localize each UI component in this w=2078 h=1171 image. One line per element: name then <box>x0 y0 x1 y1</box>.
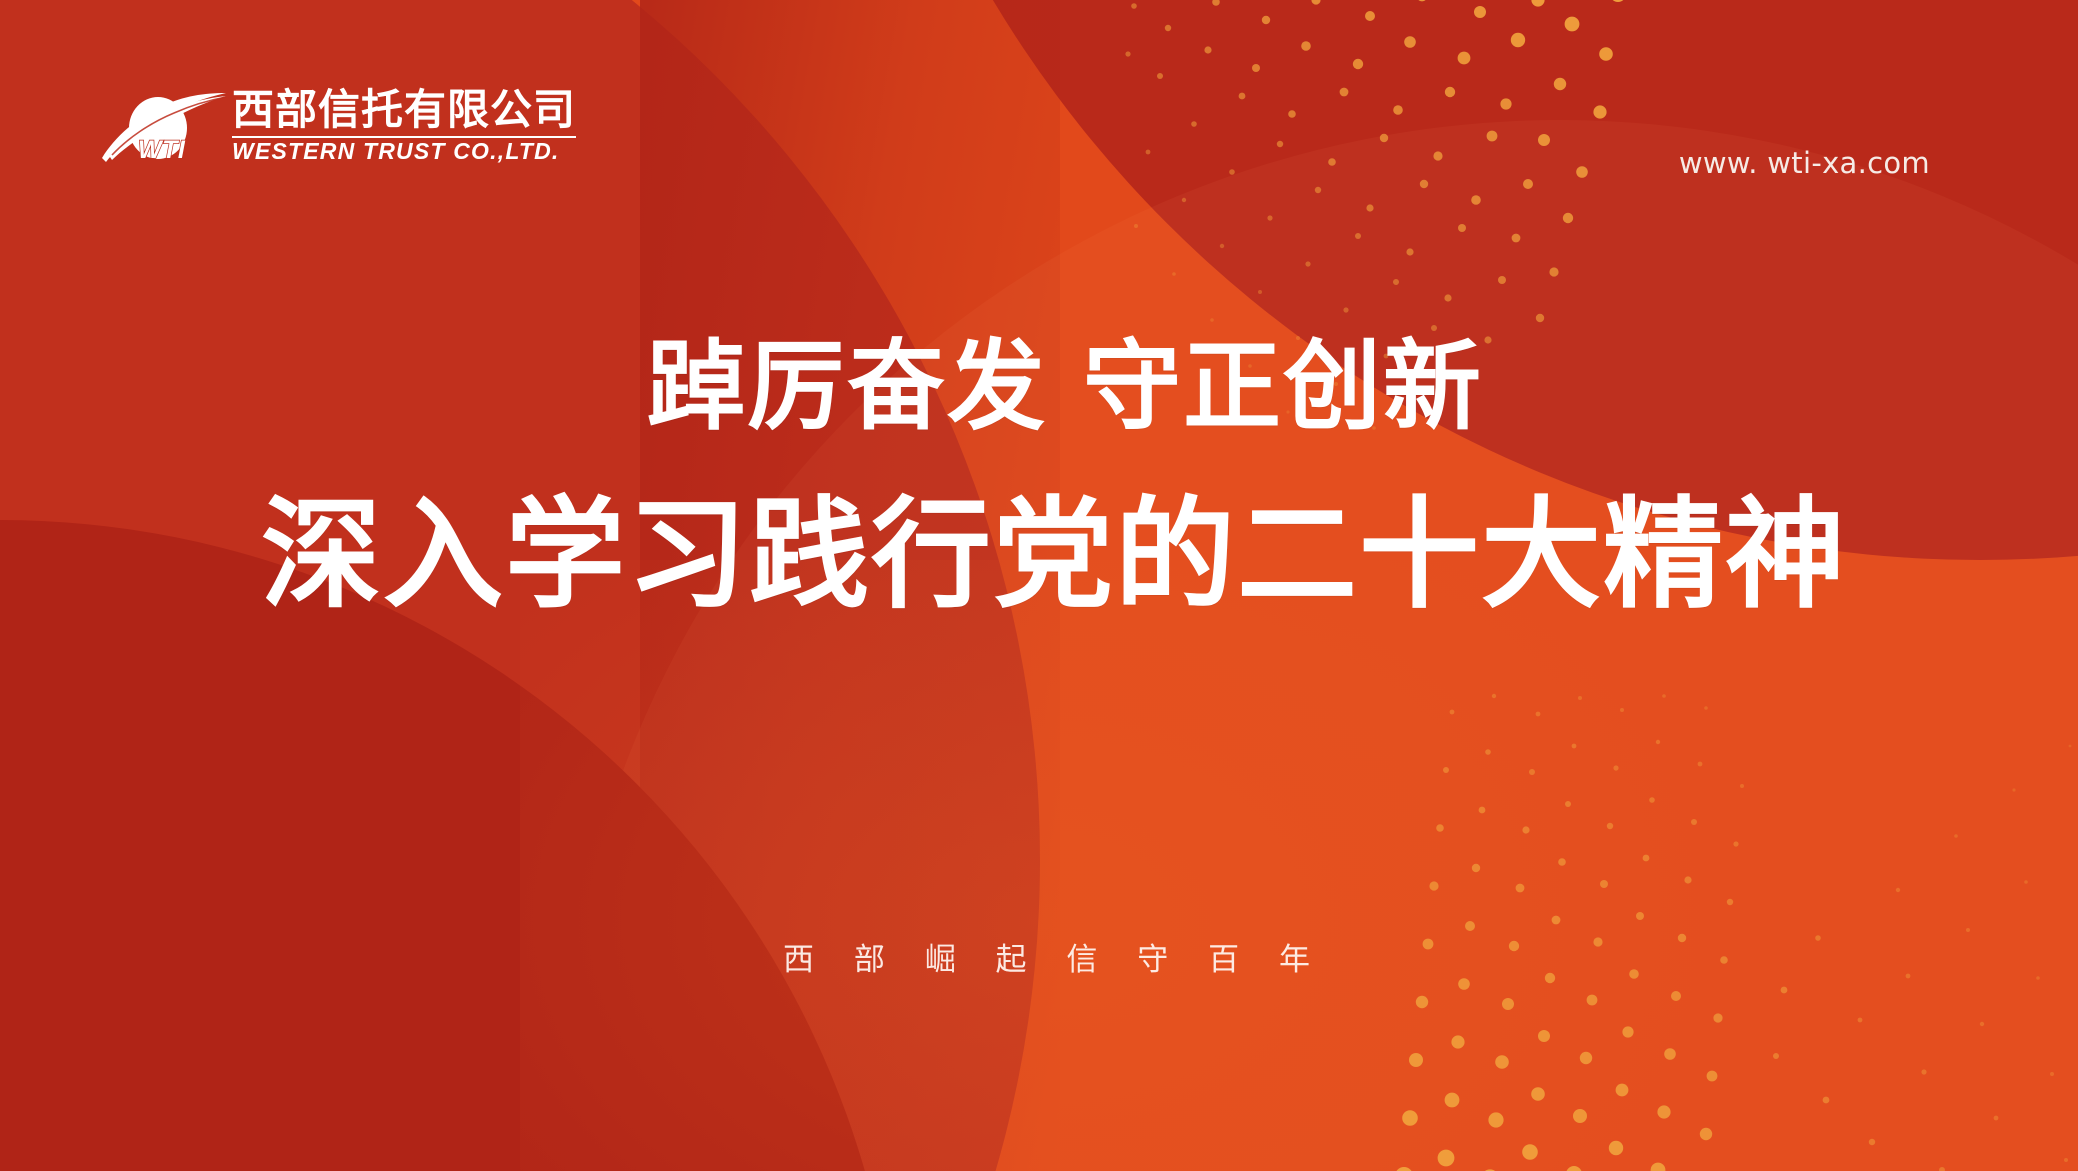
slide-canvas: WTI 西部信托有限公司 WESTERN TRUST CO.,LTD. www.… <box>0 0 2078 1171</box>
slide-title-block: 踔厉奋发 守正创新 深入学习践行党的二十大精神 <box>0 330 2078 628</box>
wti-planet-swoosh-logo-icon: WTI <box>100 92 228 164</box>
background-warm-glow <box>520 560 1820 1171</box>
company-logo[interactable]: WTI 西部信托有限公司 WESTERN TRUST CO.,LTD. <box>100 88 576 164</box>
logo-wordmark: 西部信托有限公司 WESTERN TRUST CO.,LTD. <box>232 88 576 164</box>
background-light-arc <box>560 120 2078 1171</box>
slide-title-line-1: 踔厉奋发 守正创新 <box>52 330 2078 446</box>
slide-title-line-2: 深入学习践行党的二十大精神 <box>30 484 2078 628</box>
website-url[interactable]: www. wti-xa.com <box>1679 146 1930 180</box>
svg-text:WTI: WTI <box>138 136 186 164</box>
orange-dot-pattern-bottom-right-icon <box>1380 690 2078 1171</box>
company-tagline: 西 部 崛 起 信 守 百 年 <box>30 934 2078 979</box>
logo-company-name-cn: 西部信托有限公司 <box>232 88 576 135</box>
logo-company-name-en: WESTERN TRUST CO.,LTD. <box>232 140 576 163</box>
